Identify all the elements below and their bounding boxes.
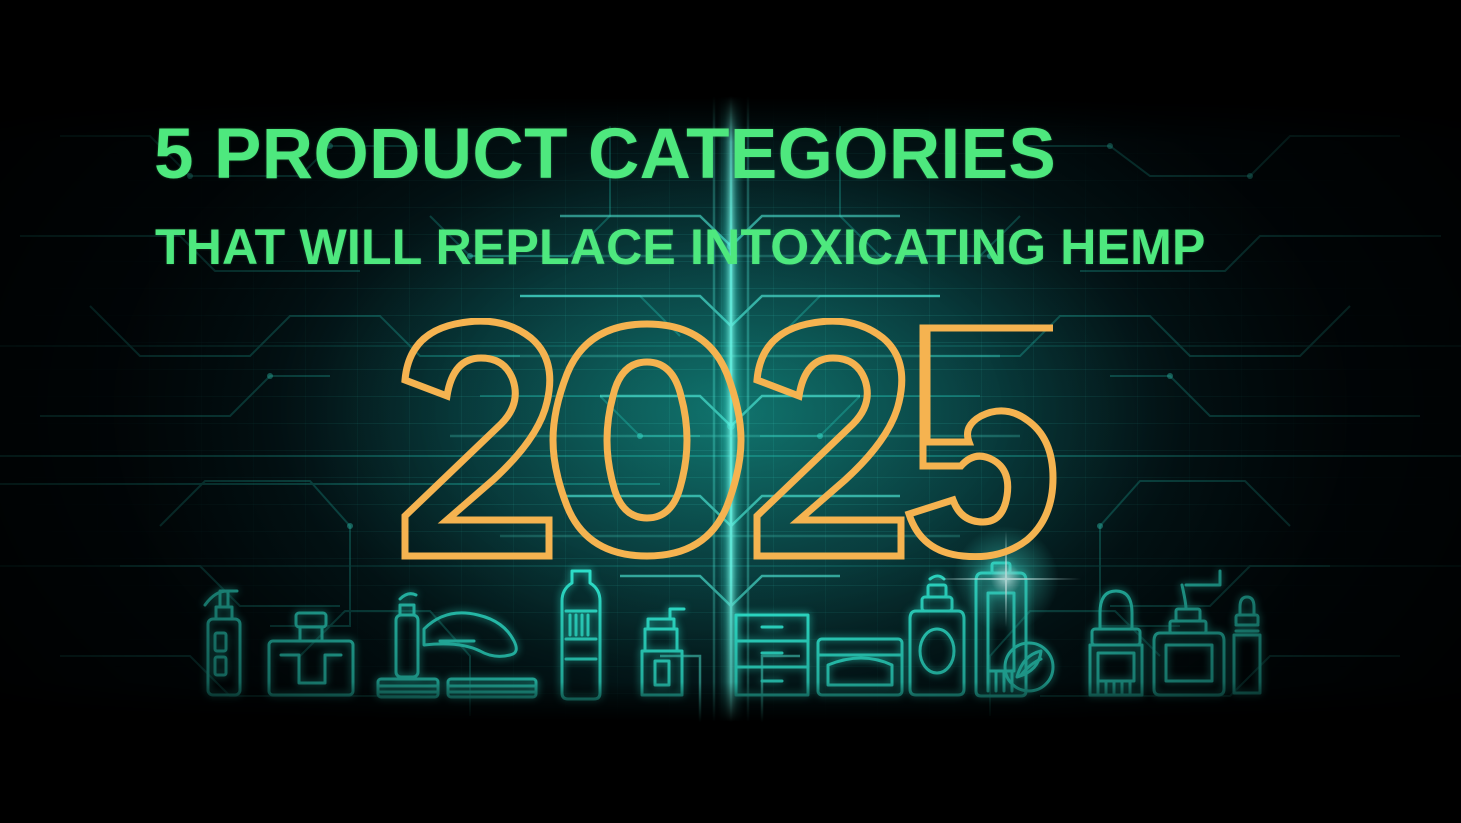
- pump-bottle-icon: [205, 591, 240, 695]
- product-icon-row: [0, 557, 1461, 722]
- beverage-can-icon: [1154, 571, 1224, 695]
- poster-canvas: 5 PRODUCT CATEGORIES THAT WILL REPLACE I…: [0, 0, 1461, 823]
- cream-tub-icon: [818, 639, 902, 695]
- tall-bottle-icon: [562, 571, 600, 699]
- aerosol-can-icon: [976, 563, 1053, 696]
- vape-device-icon: [424, 613, 536, 697]
- page-title: 5 PRODUCT CATEGORIES: [154, 119, 1056, 190]
- tincture-dropper-icon: [1090, 591, 1142, 695]
- year-2025-outline: [397, 318, 1063, 560]
- mist-spray-icon: [910, 576, 964, 695]
- stacked-drawers-icon: [736, 615, 808, 695]
- balm-jar-box-icon: [269, 613, 353, 695]
- lotion-dispenser-icon: [642, 609, 684, 695]
- mini-dropper-icon: [1234, 597, 1260, 693]
- year-outline-svg: [397, 318, 1063, 560]
- page-subtitle: THAT WILL REPLACE INTOXICATING HEMP: [155, 222, 1206, 272]
